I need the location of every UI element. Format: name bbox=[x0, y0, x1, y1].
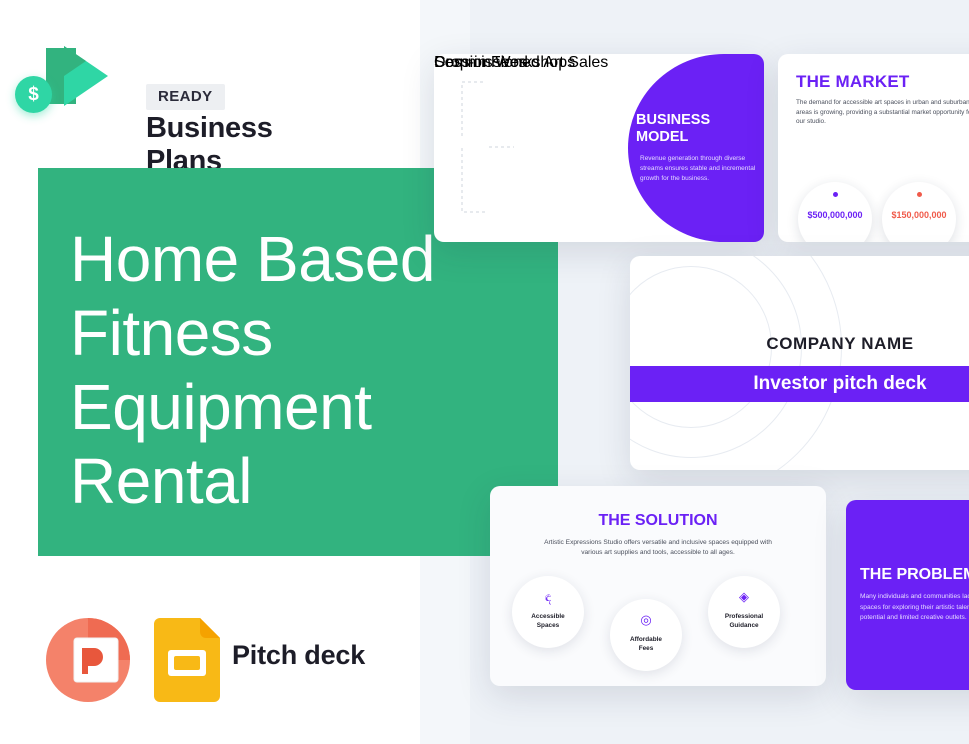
screenshot-stage: READY Business Plans Home Based Fitness … bbox=[0, 0, 969, 744]
powerpoint-file-icon bbox=[44, 616, 132, 704]
diamond-icon: ◈ bbox=[708, 589, 780, 605]
solution-subtitle: Artistic Expressions Studio offers versa… bbox=[540, 538, 776, 558]
solution-node-1: ◎ Affordable Fees bbox=[610, 599, 682, 671]
cover-headline-band: Investor pitch deck bbox=[630, 366, 969, 402]
cover-company-name: COMPANY NAME bbox=[630, 334, 969, 354]
slide-the-solution: THE SOLUTION Artistic Expressions Studio… bbox=[490, 486, 826, 686]
solution-node-0-label: Accessible Spaces bbox=[516, 612, 580, 630]
google-slides-file-icon bbox=[154, 618, 220, 702]
solution-node-0: ඳ Accessible Spaces bbox=[512, 576, 584, 648]
play-triangle-logo-icon bbox=[42, 40, 110, 112]
solution-node-1-label: Affordable Fees bbox=[614, 635, 678, 653]
slide-the-market: THE MARKET The demand for accessible art… bbox=[778, 54, 969, 242]
market-stat-0-circle: $500,000,000 bbox=[798, 182, 872, 242]
coin-icon: ◎ bbox=[610, 612, 682, 628]
lightbulb-icon: ඳ bbox=[512, 589, 584, 605]
solution-node-2-label: Professional Guidance bbox=[712, 612, 776, 630]
market-stat-1-value: $150,000,000 bbox=[882, 210, 956, 220]
ready-badge: READY bbox=[146, 84, 225, 110]
slide-the-problem: THE PROBLEM Many individuals and communi… bbox=[846, 500, 969, 690]
market-subtitle: The demand for accessible art spaces in … bbox=[796, 98, 969, 127]
cover-headline: Investor pitch deck bbox=[630, 366, 969, 402]
market-title: THE MARKET bbox=[796, 72, 909, 92]
slide-cover: COMPANY NAME Investor pitch deck bbox=[630, 256, 969, 470]
pitch-deck-label: Pitch deck bbox=[232, 640, 365, 671]
revenue-item-2-label: Commissioned Art Sales bbox=[434, 54, 608, 71]
problem-title: THE PROBLEM bbox=[860, 566, 969, 584]
problem-body: Many individuals and communities lack ac… bbox=[860, 592, 969, 624]
solution-title: THE SOLUTION bbox=[490, 512, 826, 530]
dollar-circle-icon: $ bbox=[15, 76, 52, 113]
page-title: Home Based Fitness Equipment Rental bbox=[70, 222, 500, 518]
market-stat-0-value: $500,000,000 bbox=[798, 210, 872, 220]
brand-logo: READY Business Plans bbox=[42, 38, 342, 118]
solution-node-2: ◈ Professional Guidance bbox=[708, 576, 780, 648]
market-stat-1-dot bbox=[917, 192, 922, 197]
revenue-item-2: Commissioned Art Sales bbox=[434, 54, 764, 242]
market-stat-1-circle: $150,000,000 bbox=[882, 182, 956, 242]
market-stat-0-dot bbox=[833, 192, 838, 197]
